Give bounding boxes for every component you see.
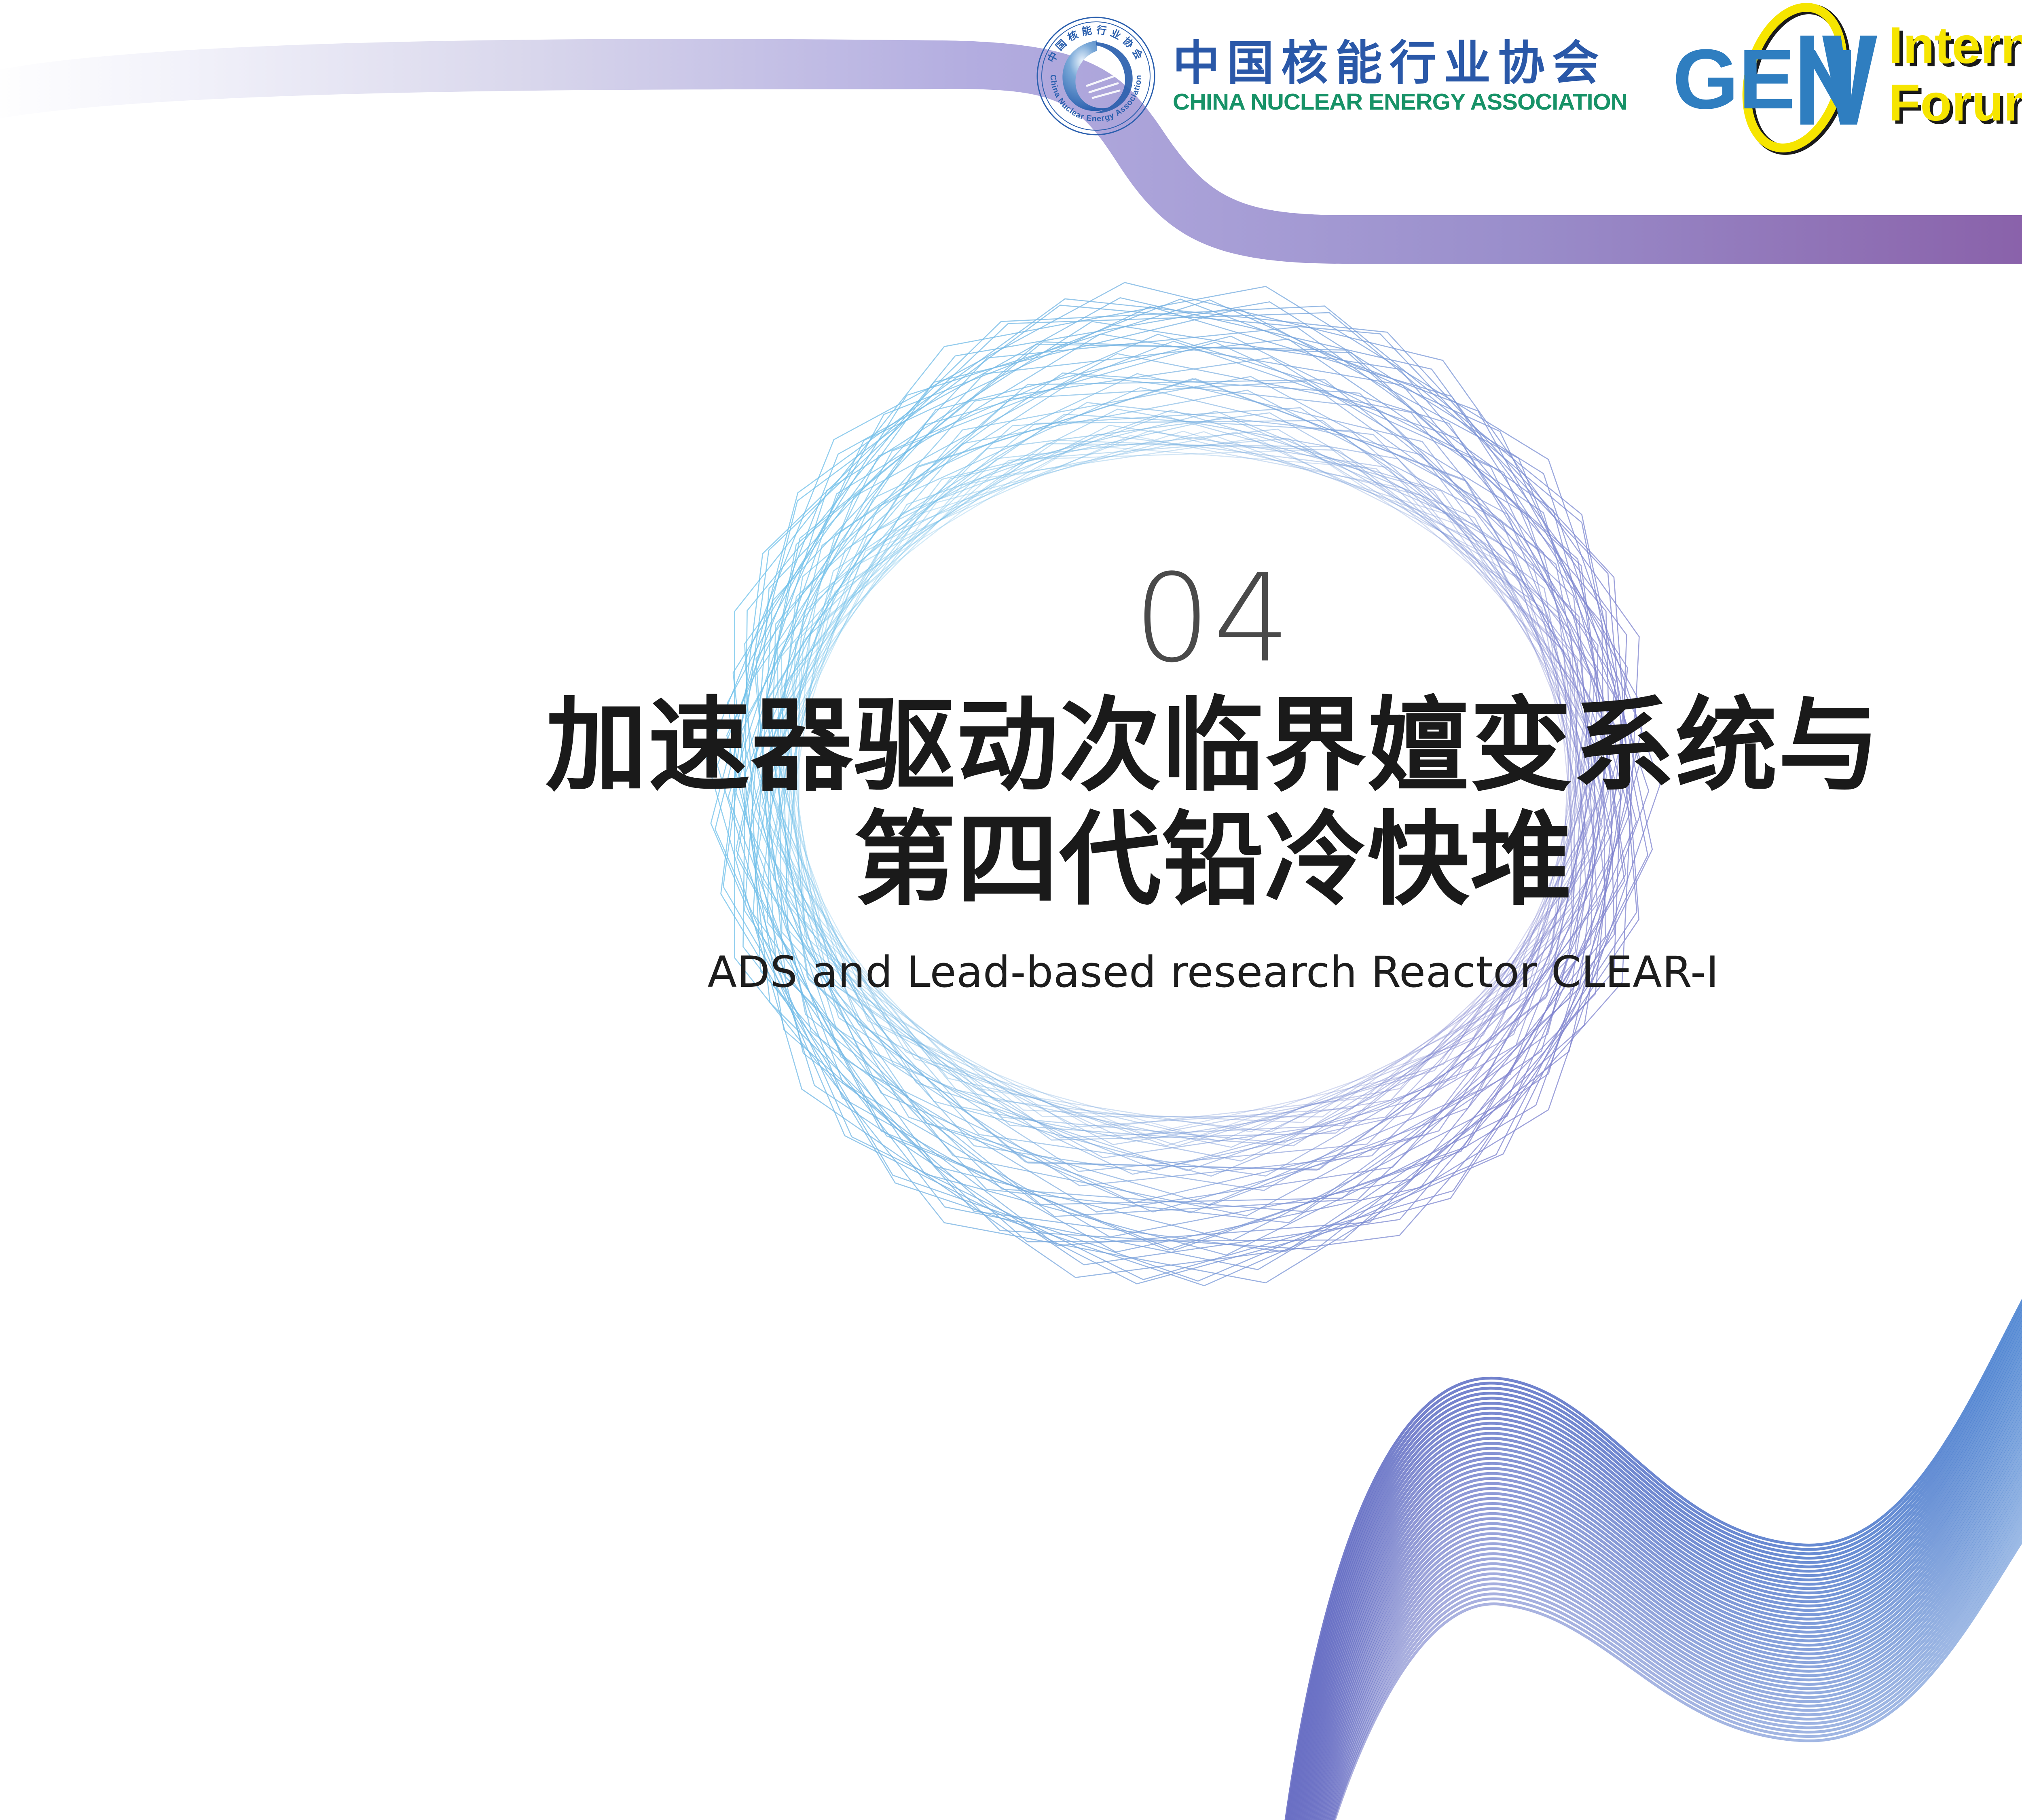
section-number: 04 (0, 558, 2022, 679)
gif-line1-text: International (1889, 17, 2022, 74)
cnea-wordmark-chinese: 中国核能行业协会 (1173, 38, 1618, 88)
cnea-logo: 中国核能行业协会 China Nuclear Energy Associatio… (1035, 0, 1618, 137)
logo-bar: 中国核能行业协会 China Nuclear Energy Associatio… (1035, 0, 2022, 170)
title-block: 04 加速器驱动次临界嬗变系统与 第四代铅冷快堆 ADS and Lead-ba… (0, 558, 2022, 997)
cnea-wordmark: 中国核能行业协会 CHINA NUCLEAR ENERGY ASSOCIATIO… (1173, 38, 1618, 114)
title-line-2: 第四代铅冷快堆 (0, 803, 2022, 917)
subtitle: ADS and Lead-based research Reactor CLEA… (0, 947, 2022, 997)
title-line-1: 加速器驱动次临界嬗变系统与 (0, 689, 2022, 803)
cnea-emblem-icon: 中国核能行业协会 China Nuclear Energy Associatio… (1035, 15, 1157, 137)
presentation-slide: 中国核能行业协会 China Nuclear Energy Associatio… (0, 0, 2022, 1820)
gen-iv-international-forum-logo: GEN International International Forum Fo… (1667, 0, 2022, 162)
gif-line2-text: Forum (1889, 74, 2022, 132)
cnea-wordmark-english: CHINA NUCLEAR ENERGY ASSOCIATION (1173, 91, 1627, 114)
